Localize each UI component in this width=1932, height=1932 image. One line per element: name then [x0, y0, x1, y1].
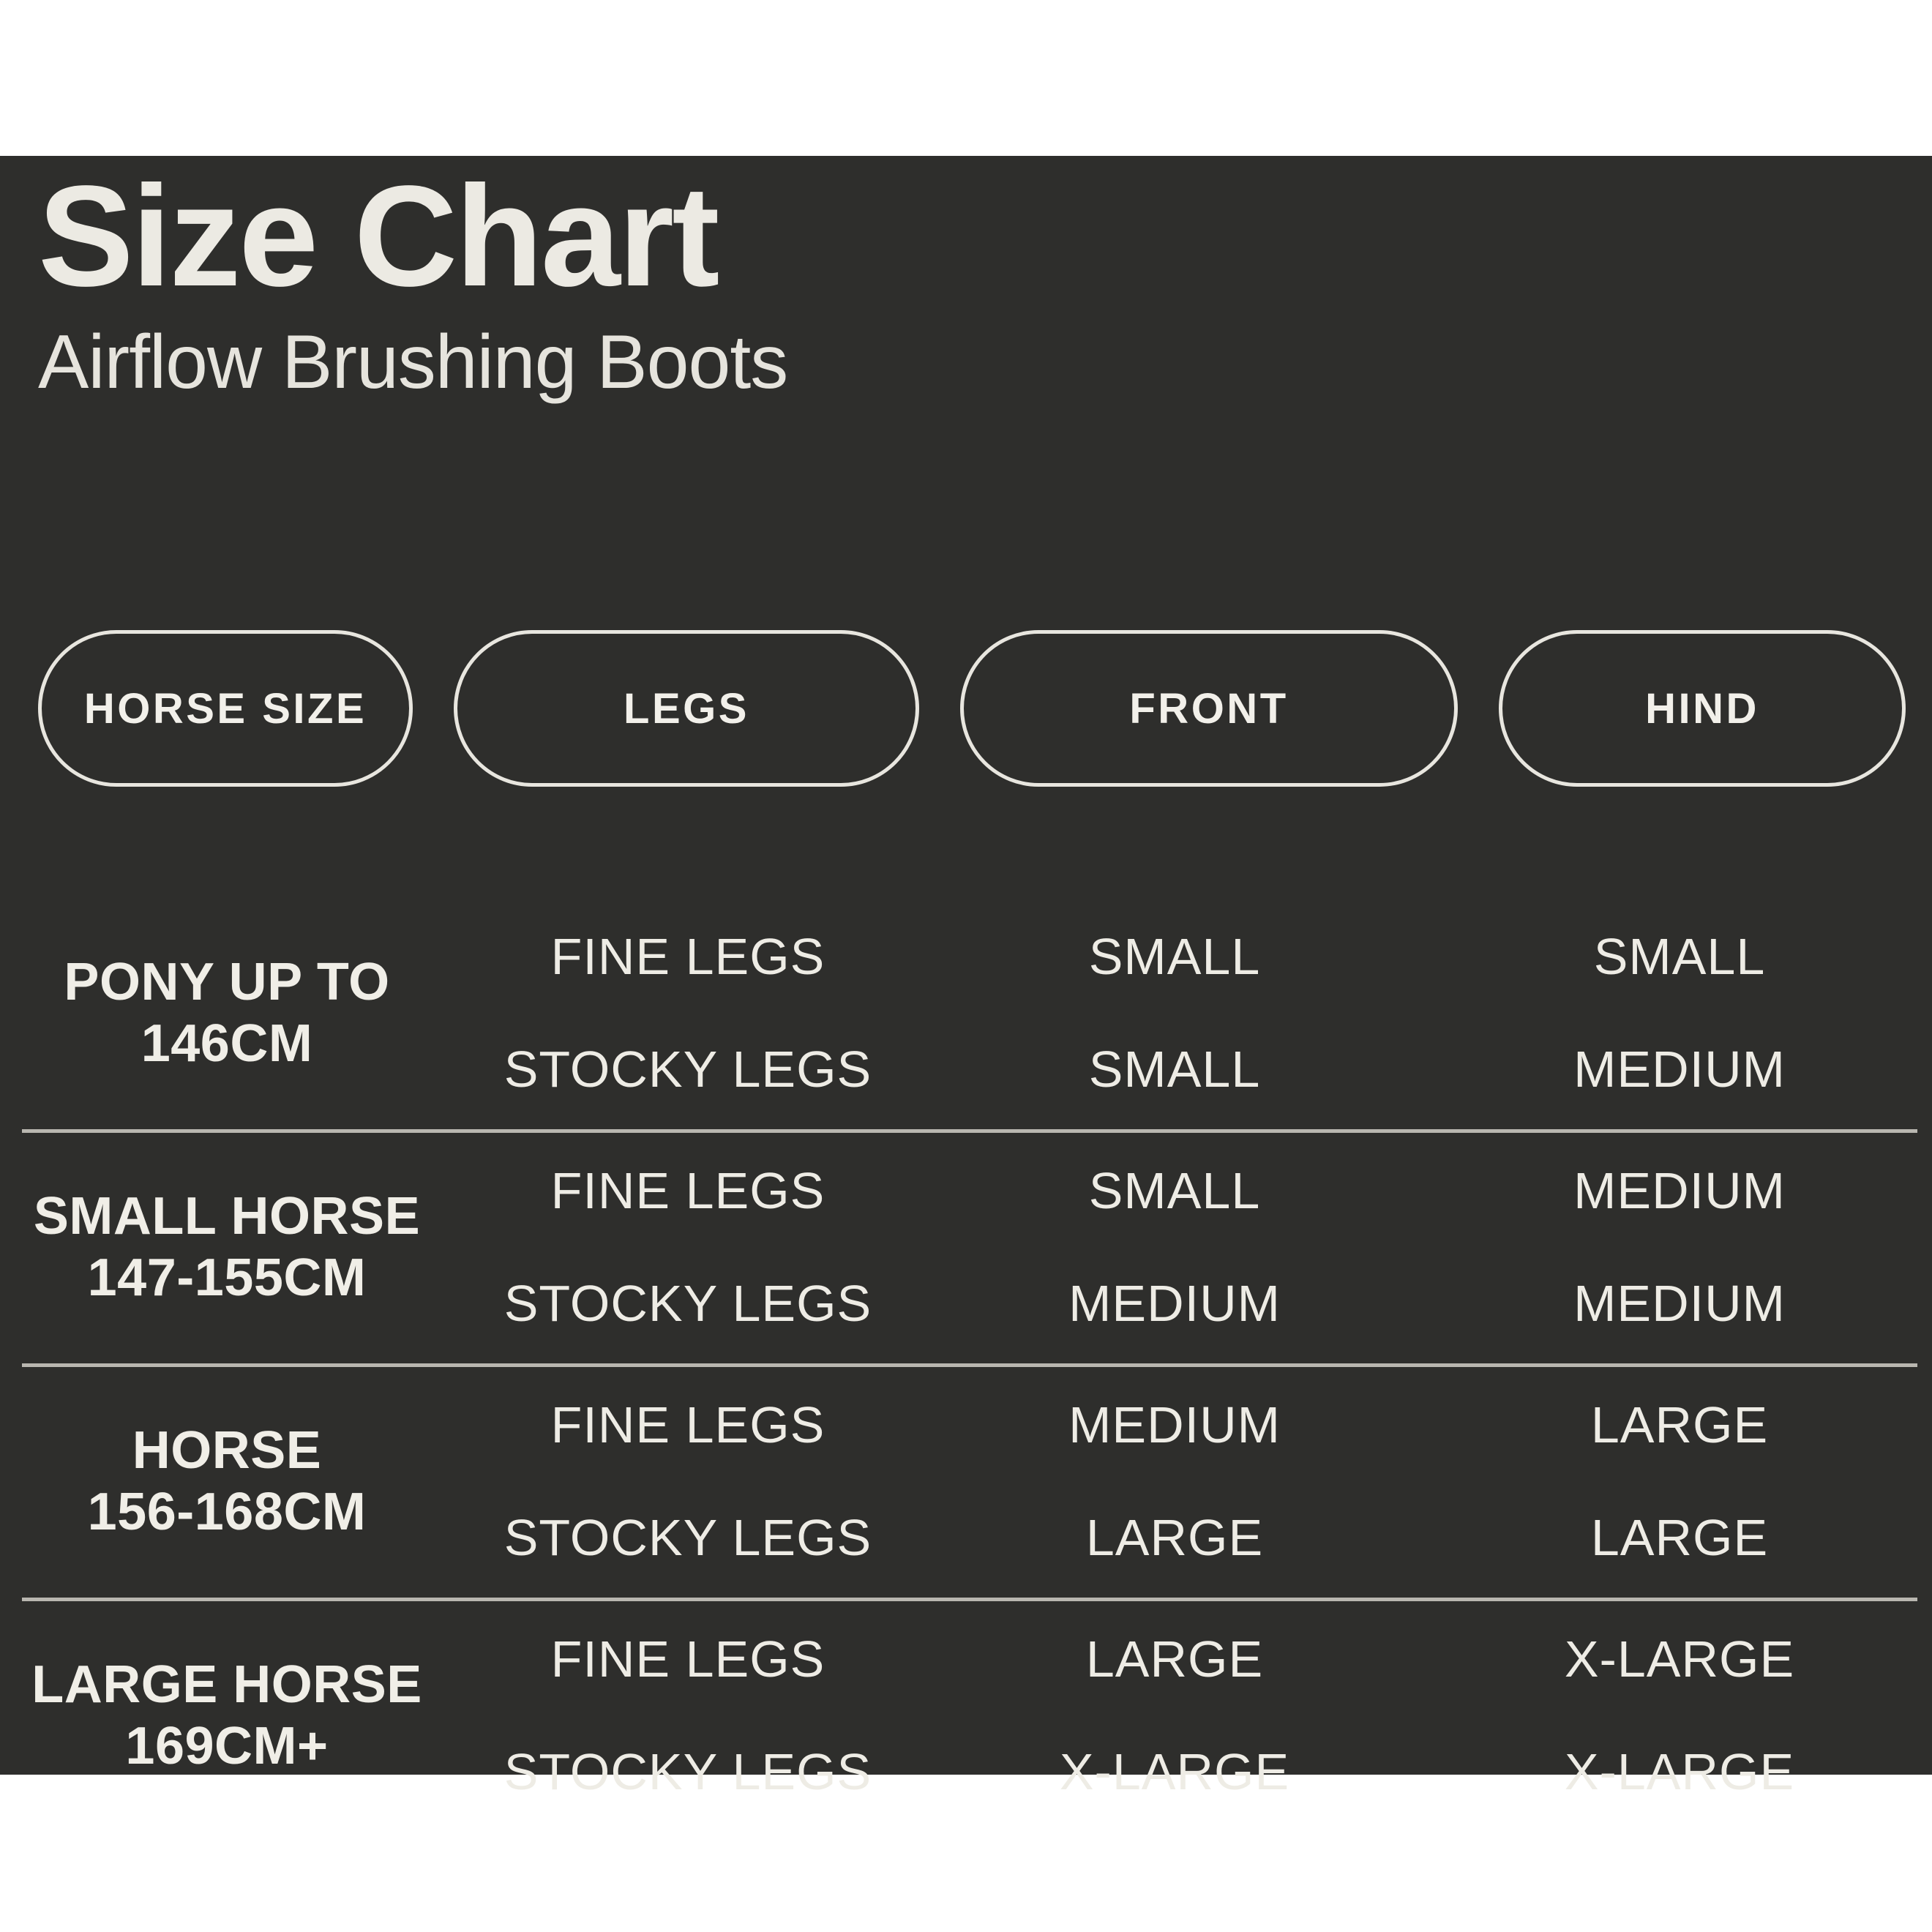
front-value: SMALL [1089, 927, 1261, 986]
front-value: MEDIUM [1068, 1396, 1281, 1454]
hind-value: LARGE [1591, 1508, 1768, 1567]
legs-value: STOCKY LEGS [504, 1742, 872, 1801]
column-header-horse-size: HORSE SIZE [38, 630, 413, 787]
column-header-label: HORSE SIZE [84, 684, 367, 733]
column-header-label: LEGS [624, 684, 749, 733]
hind-cell: X-LARGE [1427, 1713, 1932, 1830]
hind-cell: MEDIUM [1427, 1132, 1932, 1249]
size-chart-panel: Size Chart Airflow Brushing Boots HORSE … [0, 156, 1932, 1775]
table-row-group: HORSE 156-168CM FINE LEGS MEDIUM LARGE S… [0, 1363, 1932, 1598]
table-row: STOCKY LEGS SMALL MEDIUM [0, 1011, 1932, 1128]
front-cell: LARGE [922, 1479, 1427, 1596]
front-cell: MEDIUM [922, 1366, 1427, 1483]
front-cell: SMALL [922, 898, 1427, 1015]
heading-block: Size Chart Airflow Brushing Boots [38, 165, 1794, 400]
spacer-cell [0, 1011, 454, 1128]
front-cell: MEDIUM [922, 1245, 1427, 1362]
front-value: SMALL [1089, 1040, 1261, 1098]
column-header-row: HORSE SIZE LEGS FRONT HIND [0, 630, 1932, 790]
legs-value: FINE LEGS [551, 927, 825, 986]
table-row: STOCKY LEGS LARGE LARGE [0, 1479, 1932, 1596]
table-row: STOCKY LEGS X-LARGE X-LARGE [0, 1713, 1932, 1830]
front-value: LARGE [1086, 1630, 1263, 1688]
hind-value: MEDIUM [1573, 1274, 1786, 1333]
hind-cell: LARGE [1427, 1366, 1932, 1483]
table-row: STOCKY LEGS MEDIUM MEDIUM [0, 1245, 1932, 1362]
column-header-front: FRONT [960, 630, 1458, 787]
front-cell: X-LARGE [922, 1713, 1427, 1830]
table-row: FINE LEGS SMALL SMALL [0, 898, 1932, 1015]
legs-cell: FINE LEGS [454, 1600, 922, 1718]
spacer-cell [0, 898, 454, 1015]
hind-value: X-LARGE [1565, 1630, 1794, 1688]
front-value: MEDIUM [1068, 1274, 1281, 1333]
table-row: FINE LEGS SMALL MEDIUM [0, 1132, 1932, 1249]
table-row-group: PONY UP TO 146CM FINE LEGS SMALL SMALL S… [0, 895, 1932, 1129]
column-header-hind: HIND [1499, 630, 1906, 787]
spacer-cell [0, 1600, 454, 1718]
front-value: X-LARGE [1060, 1742, 1289, 1801]
legs-cell: FINE LEGS [454, 1132, 922, 1249]
legs-value: FINE LEGS [551, 1630, 825, 1688]
table-row: FINE LEGS MEDIUM LARGE [0, 1366, 1932, 1483]
table-row: FINE LEGS LARGE X-LARGE [0, 1600, 1932, 1718]
hind-cell: LARGE [1427, 1479, 1932, 1596]
front-cell: LARGE [922, 1600, 1427, 1718]
hind-value: SMALL [1594, 927, 1766, 986]
legs-cell: STOCKY LEGS [454, 1245, 922, 1362]
legs-cell: STOCKY LEGS [454, 1713, 922, 1830]
table-row-group: SMALL HORSE 147-155CM FINE LEGS SMALL ME… [0, 1129, 1932, 1363]
spacer-cell [0, 1366, 454, 1483]
legs-cell: FINE LEGS [454, 1366, 922, 1483]
column-header-label: HIND [1645, 684, 1759, 733]
hind-value: LARGE [1591, 1396, 1768, 1454]
front-cell: SMALL [922, 1011, 1427, 1128]
spacer-cell [0, 1245, 454, 1362]
page-subtitle: Airflow Brushing Boots [38, 324, 1794, 400]
hind-cell: SMALL [1427, 898, 1932, 1015]
column-header-label: FRONT [1129, 684, 1288, 733]
spacer-cell [0, 1713, 454, 1830]
front-value: SMALL [1089, 1161, 1261, 1220]
legs-cell: FINE LEGS [454, 898, 922, 1015]
legs-cell: STOCKY LEGS [454, 1011, 922, 1128]
hind-value: MEDIUM [1573, 1040, 1786, 1098]
legs-value: FINE LEGS [551, 1396, 825, 1454]
front-value: LARGE [1086, 1508, 1263, 1567]
legs-value: STOCKY LEGS [504, 1274, 872, 1333]
column-header-legs: LEGS [454, 630, 919, 787]
front-cell: SMALL [922, 1132, 1427, 1249]
legs-value: STOCKY LEGS [504, 1508, 872, 1567]
hind-value: MEDIUM [1573, 1161, 1786, 1220]
hind-cell: X-LARGE [1427, 1600, 1932, 1718]
spacer-cell [0, 1132, 454, 1249]
hind-value: X-LARGE [1565, 1742, 1794, 1801]
page-title: Size Chart [38, 165, 1794, 308]
legs-cell: STOCKY LEGS [454, 1479, 922, 1596]
legs-value: FINE LEGS [551, 1161, 825, 1220]
hind-cell: MEDIUM [1427, 1011, 1932, 1128]
size-table: PONY UP TO 146CM FINE LEGS SMALL SMALL S… [0, 895, 1932, 1832]
legs-value: STOCKY LEGS [504, 1040, 872, 1098]
hind-cell: MEDIUM [1427, 1245, 1932, 1362]
spacer-cell [0, 1479, 454, 1596]
table-row-group: LARGE HORSE 169CM+ FINE LEGS LARGE X-LAR… [0, 1598, 1932, 1832]
